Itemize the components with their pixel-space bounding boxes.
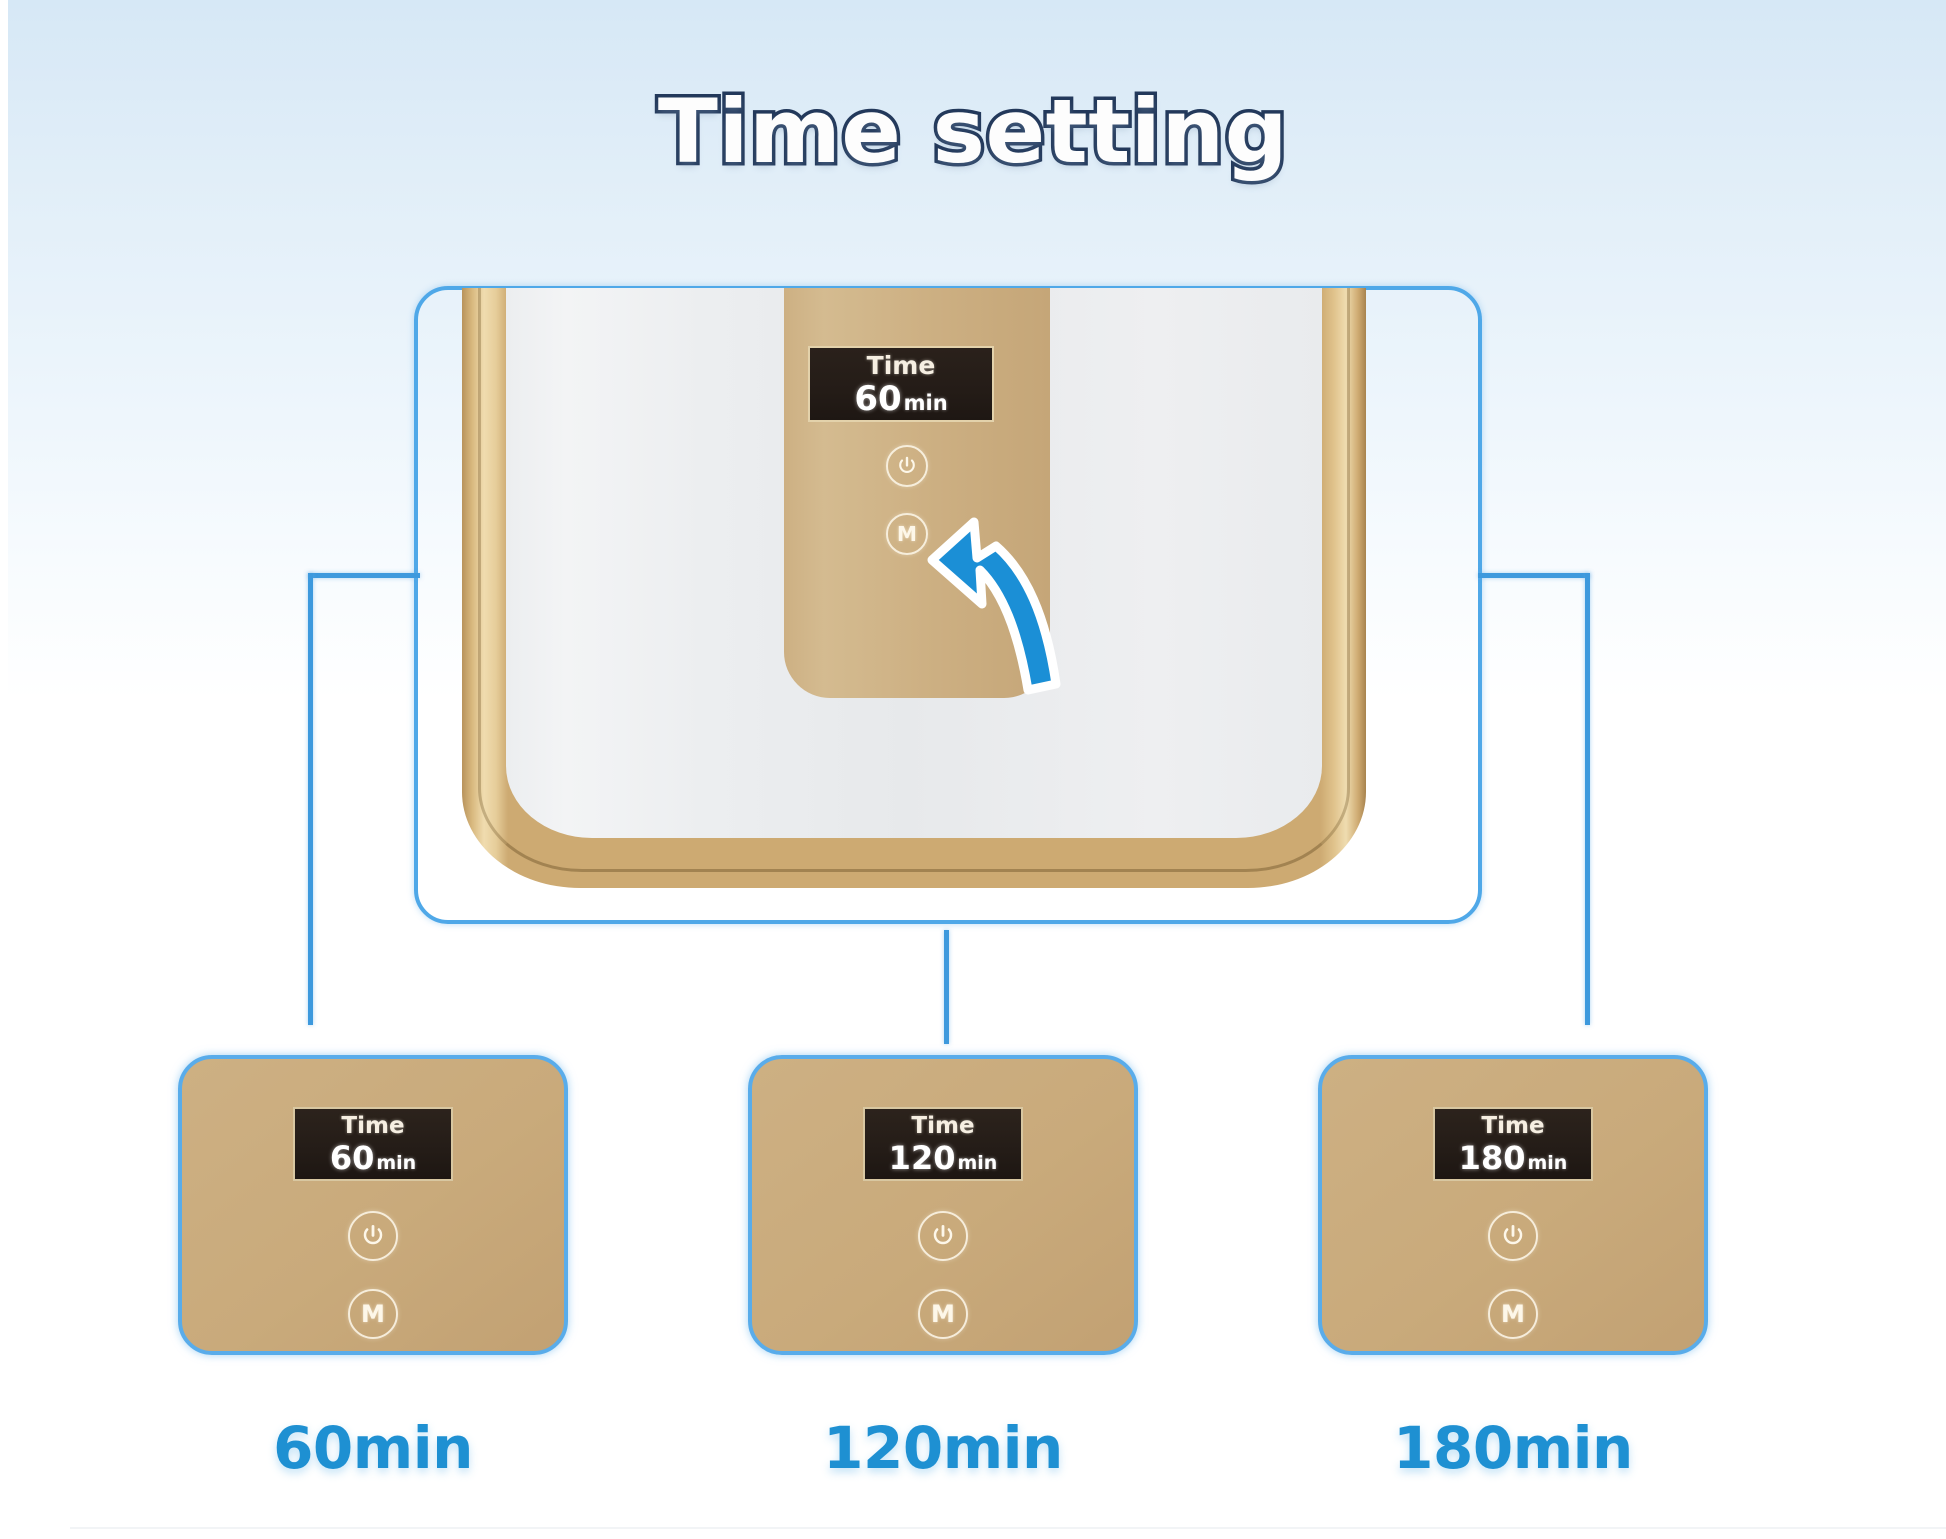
power-icon xyxy=(360,1223,386,1249)
display-label: Time xyxy=(867,353,936,378)
display-value: 60 xyxy=(854,382,901,416)
display-label: Time xyxy=(1481,1115,1544,1138)
display-value: 60 xyxy=(330,1142,375,1174)
card-caption-120: 120min xyxy=(748,1414,1138,1482)
card-mode-button[interactable]: M xyxy=(348,1289,398,1339)
power-icon xyxy=(1500,1223,1526,1249)
card-mode-button[interactable]: M xyxy=(918,1289,968,1339)
display-unit: min xyxy=(957,1154,997,1173)
hero-display-screen: Time 60 min xyxy=(808,346,994,422)
card-power-button[interactable] xyxy=(1488,1211,1538,1261)
card-display-screen: Time 180 min xyxy=(1433,1107,1593,1181)
connector-right-vertical xyxy=(1585,573,1590,1025)
time-option-card-180[interactable]: Time 180 min M xyxy=(1318,1055,1708,1355)
power-icon xyxy=(896,455,918,477)
power-icon xyxy=(930,1223,956,1249)
display-label: Time xyxy=(341,1115,404,1138)
hero-power-button[interactable] xyxy=(886,445,928,487)
card-power-button[interactable] xyxy=(918,1211,968,1261)
background-bottom-divider xyxy=(70,1527,1946,1529)
display-value-row: 60 min xyxy=(330,1142,416,1174)
display-value-row: 60 min xyxy=(854,382,947,416)
card-caption-60: 60min xyxy=(178,1414,568,1482)
connector-middle-vertical xyxy=(944,930,949,1044)
mode-button-label: M xyxy=(1501,1300,1525,1328)
curved-arrow-up-left-icon xyxy=(922,508,1102,698)
display-value: 180 xyxy=(1459,1142,1526,1174)
hero-device: Time 60 min M xyxy=(462,288,1366,888)
display-value: 120 xyxy=(889,1142,956,1174)
display-unit: min xyxy=(1527,1154,1567,1173)
connector-right-horizontal xyxy=(1478,573,1590,578)
card-display-screen: Time 60 min xyxy=(293,1107,453,1181)
display-value-row: 180 min xyxy=(1459,1142,1568,1174)
mode-button-label: M xyxy=(897,522,917,546)
mode-button-label: M xyxy=(361,1300,385,1328)
display-value-row: 120 min xyxy=(889,1142,998,1174)
connector-left-horizontal xyxy=(308,573,420,578)
page-title: Time setting xyxy=(0,86,1946,178)
time-option-card-60[interactable]: Time 60 min M xyxy=(178,1055,568,1355)
card-display-screen: Time 120 min xyxy=(863,1107,1023,1181)
card-caption-180: 180min xyxy=(1318,1414,1708,1482)
time-option-card-120[interactable]: Time 120 min M xyxy=(748,1055,1138,1355)
connector-left-vertical xyxy=(308,573,313,1025)
display-unit: min xyxy=(376,1154,416,1173)
display-label: Time xyxy=(911,1115,974,1138)
card-power-button[interactable] xyxy=(348,1211,398,1261)
mode-button-label: M xyxy=(931,1300,955,1328)
display-unit: min xyxy=(904,393,948,414)
infographic-page: Time setting Time 60 min M xyxy=(0,0,1946,1539)
card-mode-button[interactable]: M xyxy=(1488,1289,1538,1339)
